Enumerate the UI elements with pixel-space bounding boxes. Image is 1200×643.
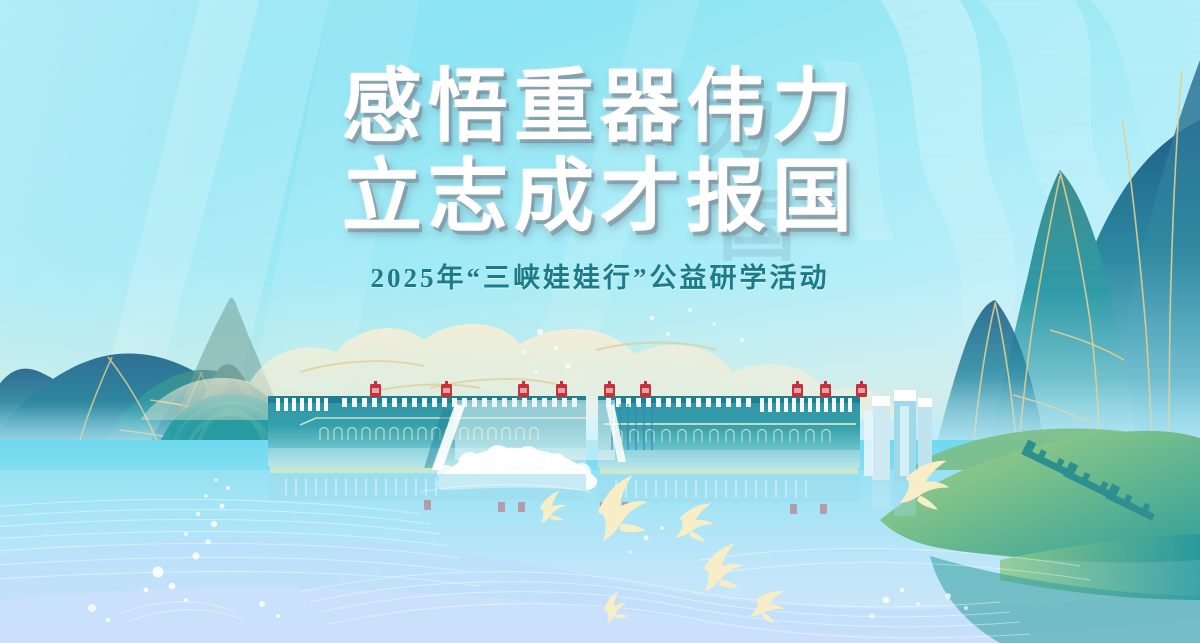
dam-crest-teeth-left — [276, 398, 577, 411]
penstock-stripes — [460, 400, 607, 458]
dam-spillway-foam — [437, 445, 597, 490]
dam-spillway — [424, 400, 652, 490]
poster-canvas: 力 国 感悟重器伟力 立志成才报国 2025年“三峡娃娃行”公益研学活动 — [0, 0, 1200, 643]
water-ripples — [0, 485, 1090, 638]
crane-reflections — [424, 500, 827, 514]
dam-left-wing — [268, 396, 586, 473]
ripple-band — [0, 538, 1200, 643]
terraced-hill — [152, 298, 306, 509]
dam-reflection — [268, 474, 860, 502]
dam-right-wing — [598, 396, 860, 474]
cloud-gold-strokes — [300, 343, 716, 393]
flying-swallows — [537, 454, 954, 625]
title-block: 感悟重器伟力 立志成才报国 2025年“三峡娃娃行”公益研学活动 — [0, 62, 1200, 295]
dam-arcade-left — [320, 428, 538, 441]
main-title-line-1: 感悟重器伟力 — [0, 62, 1200, 152]
hillside-wall — [1021, 440, 1159, 521]
main-title-line-2: 立志成才报国 — [0, 152, 1200, 242]
penstock-stripes-right — [612, 404, 652, 450]
dam-arcade-right — [614, 430, 830, 443]
dam-crest-teeth-right — [606, 398, 852, 412]
ship-lock-towers — [864, 390, 932, 516]
bubble-dots-sky — [523, 308, 744, 374]
bubble-dots-water — [88, 478, 968, 622]
red-crane-towers — [370, 381, 867, 397]
cloud-shape — [140, 324, 896, 420]
subtitle: 2025年“三峡娃娃行”公益研学活动 — [0, 256, 1200, 295]
left-mountain-range — [0, 353, 340, 480]
